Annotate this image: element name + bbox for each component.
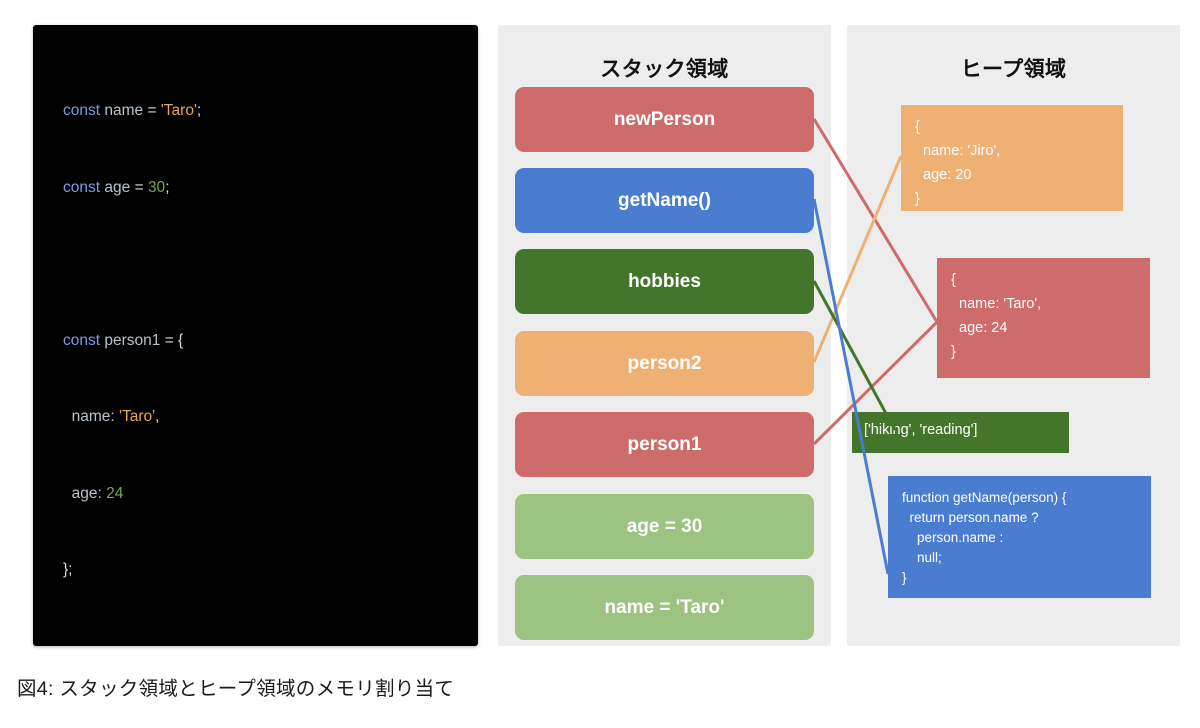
- stack-block-newperson[interactable]: newPerson: [515, 87, 814, 152]
- stack-block-person2[interactable]: person2: [515, 331, 814, 396]
- code-line: name: 'Taro',: [63, 404, 472, 430]
- code-line: const name = 'Taro';: [63, 98, 472, 124]
- heap-box-taro-object[interactable]: { name: 'Taro', age: 24 }: [937, 258, 1150, 378]
- heap-box-hobbies-array[interactable]: ['hiking', 'reading']: [852, 412, 1069, 453]
- heap-box-getname-function[interactable]: function getName(person) { return person…: [888, 476, 1151, 598]
- heap-region-panel: ヒープ領域 { name: 'Jiro', age: 20 } { name: …: [847, 25, 1180, 646]
- stack-block-getname[interactable]: getName(): [515, 168, 814, 233]
- stack-region-title: スタック領域: [498, 53, 831, 83]
- figure-caption: 図4: スタック領域とヒープ領域のメモリ割り当て: [17, 672, 454, 701]
- code-line: [63, 251, 472, 277]
- stack-block-name[interactable]: name = 'Taro': [515, 575, 814, 640]
- stack-block-person1[interactable]: person1: [515, 412, 814, 477]
- stack-block-hobbies[interactable]: hobbies: [515, 249, 814, 314]
- stack-block-label: hobbies: [628, 271, 701, 293]
- figure-root: const name = 'Taro'; const age = 30; con…: [0, 0, 1200, 728]
- stack-block-label: person1: [628, 434, 702, 456]
- code-panel: const name = 'Taro'; const age = 30; con…: [33, 25, 478, 646]
- stack-region-panel: スタック領域 newPerson getName() hobbies perso…: [498, 25, 831, 646]
- code-line: age: 24: [63, 481, 472, 507]
- stack-block-label: newPerson: [614, 109, 715, 131]
- code-line: const person1 = {: [63, 328, 472, 354]
- stack-block-age[interactable]: age = 30: [515, 494, 814, 559]
- code-line: };: [63, 557, 472, 583]
- stack-block-label: age = 30: [627, 516, 703, 538]
- stack-block-label: person2: [628, 353, 702, 375]
- heap-box-jiro-object[interactable]: { name: 'Jiro', age: 20 }: [901, 105, 1123, 211]
- stack-block-label: getName(): [618, 190, 711, 212]
- stack-block-label: name = 'Taro': [604, 597, 724, 619]
- code-line: const age = 30;: [63, 175, 472, 201]
- code-listing: const name = 'Taro'; const age = 30; con…: [63, 47, 472, 646]
- heap-region-title: ヒープ領域: [847, 53, 1180, 83]
- code-line: [63, 634, 472, 647]
